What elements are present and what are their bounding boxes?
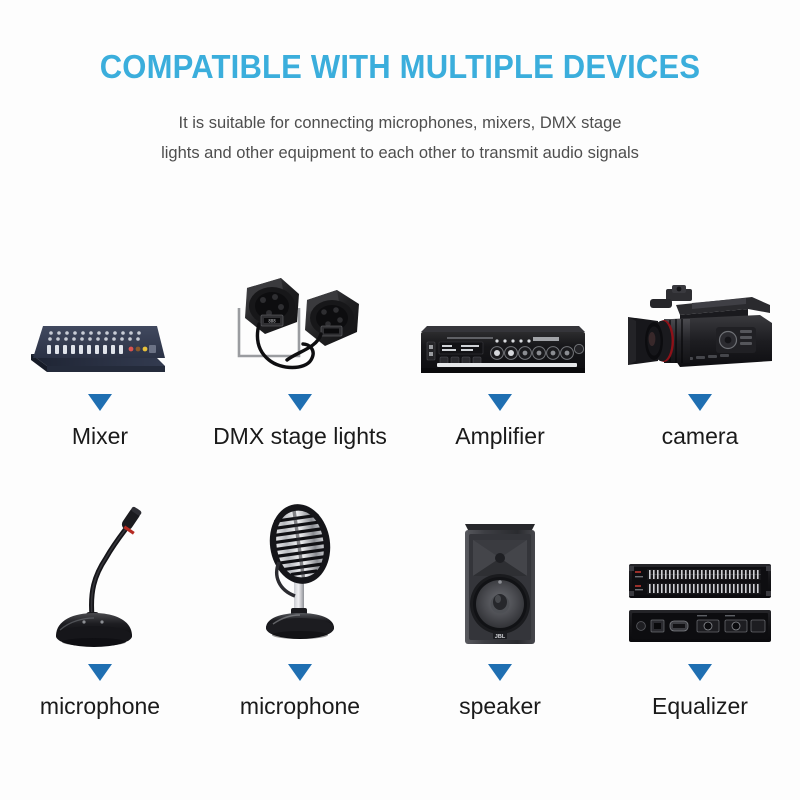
device-cell-dmx-stage-lights: 888 DMX stage [200,240,400,450]
device-image-amplifier [413,240,588,380]
amplifier-icon [413,318,588,380]
device-cell-amplifier: Amplifier [400,240,600,450]
compatible-devices-infographic: COMPATIBLE WITH MULTIPLE DEVICES It is s… [0,0,800,800]
down-triangle-marker [88,664,112,681]
down-triangle-marker [488,394,512,411]
subtitle-line-2: lights and other equipment to each other… [110,138,690,168]
down-triangle-marker [288,664,312,681]
device-cell-speaker: JBL speaker [400,495,600,720]
device-image-speaker: JBL [455,495,545,650]
device-label: microphone [40,693,160,720]
device-cell-mixer: Mixer [0,240,200,450]
gooseneck-microphone-icon [40,500,160,650]
down-triangle-marker [88,394,112,411]
device-image-camera [620,240,780,380]
svg-text:888: 888 [268,318,276,323]
device-image-dmx-stage-lights: 888 [225,240,375,380]
device-cell-equalizer: Equalizer [600,495,800,720]
rack-equalizer-icon [625,558,775,650]
retro-microphone-icon [245,498,355,650]
device-label: Amplifier [455,423,544,450]
audio-mixer-icon [25,314,175,380]
device-label: speaker [459,693,541,720]
device-cell-microphone-gooseneck: microphone [0,495,200,720]
device-image-microphone-gooseneck [40,495,160,650]
studio-monitor-speaker-icon: JBL [455,510,545,650]
device-image-equalizer [625,495,775,650]
device-label: camera [662,423,739,450]
device-label: microphone [240,693,360,720]
device-cell-camera: camera [600,240,800,450]
subtitle-line-1: It is suitable for connecting microphone… [110,108,690,138]
device-label: DMX stage lights [213,423,387,450]
device-label: Equalizer [652,693,748,720]
down-triangle-marker [688,664,712,681]
device-row-2: microphone [0,495,800,720]
svg-text:JBL: JBL [495,634,506,640]
dmx-stage-light-icon: 888 [225,260,375,380]
device-cell-microphone-retro: microphone [200,495,400,720]
page-title: COMPATIBLE WITH MULTIPLE DEVICES [24,48,776,86]
down-triangle-marker [688,394,712,411]
down-triangle-marker [488,664,512,681]
device-image-mixer [25,240,175,380]
down-triangle-marker [288,394,312,411]
page-subtitle: It is suitable for connecting microphone… [110,108,690,168]
device-label: Mixer [72,423,128,450]
device-row-1: Mixer [0,240,800,450]
device-image-microphone-retro [245,495,355,650]
header-section: COMPATIBLE WITH MULTIPLE DEVICES It is s… [0,0,800,168]
camcorder-icon [620,275,780,380]
